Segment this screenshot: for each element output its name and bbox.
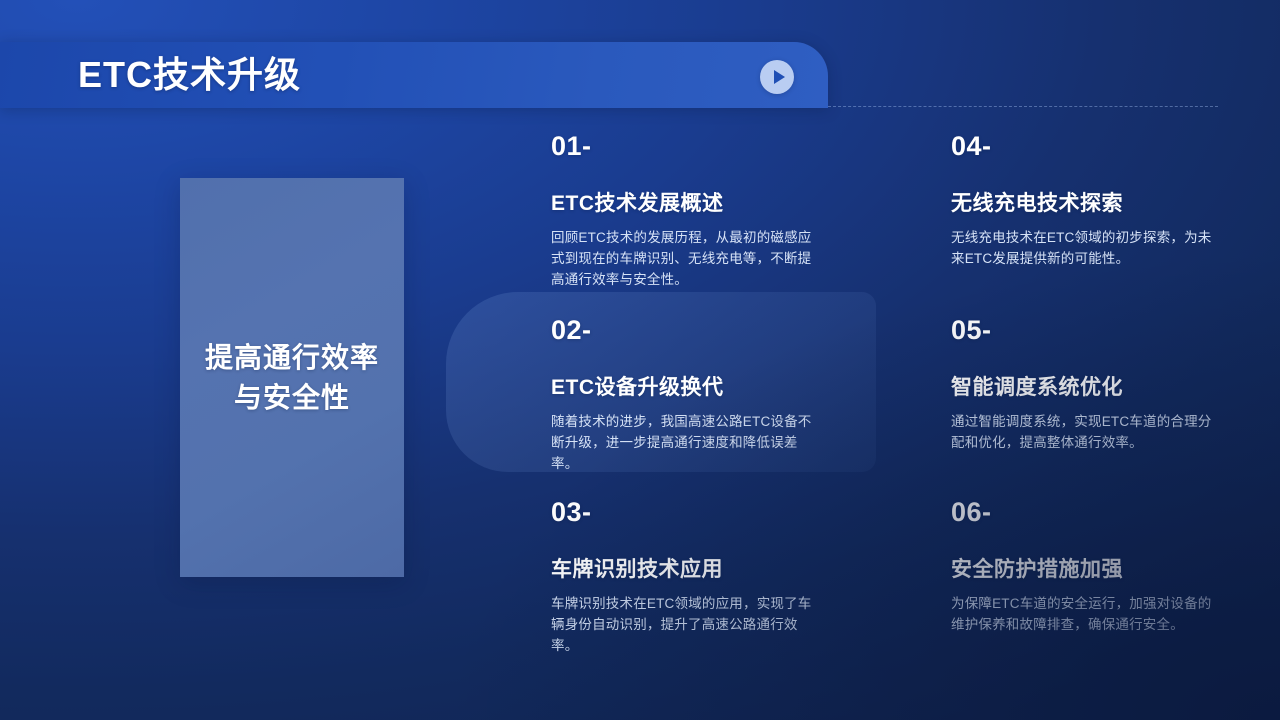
item-number: 06- (951, 496, 1219, 528)
item-body: 无线充电技术在ETC领域的初步探索，为未来ETC发展提供新的可能性。 (951, 227, 1219, 269)
item-body: 随着技术的进步，我国高速公路ETC设备不断升级，进一步提高通行速度和降低误差率。 (551, 411, 819, 474)
item-body: 通过智能调度系统，实现ETC车道的合理分配和优化，提高整体通行效率。 (951, 411, 1219, 453)
item-body: 回顾ETC技术的发展历程，从最初的磁感应式到现在的车牌识别、无线充电等，不断提高… (551, 227, 819, 290)
item-heading: 安全防护措施加强 (951, 556, 1219, 584)
list-item-03[interactable]: 03- 车牌识别技术应用 车牌识别技术在ETC领域的应用，实现了车辆身份自动识别… (551, 496, 819, 656)
item-number: 05- (951, 314, 1219, 346)
list-item-02[interactable]: 02- ETC设备升级换代 随着技术的进步，我国高速公路ETC设备不断升级，进一… (551, 314, 819, 474)
slide-canvas: ETC技术升级 提高通行效率 与安全性 01- ETC技术发展概述 回顾ETC技… (0, 0, 1280, 720)
item-number: 04- (951, 130, 1219, 162)
list-item-06[interactable]: 06- 安全防护措施加强 为保障ETC车道的安全运行，加强对设备的维护保养和故障… (951, 496, 1219, 635)
list-item-01[interactable]: 01- ETC技术发展概述 回顾ETC技术的发展历程，从最初的磁感应式到现在的车… (551, 130, 819, 290)
item-body: 车牌识别技术在ETC领域的应用，实现了车辆身份自动识别，提升了高速公路通行效率。 (551, 593, 819, 656)
item-heading: 车牌识别技术应用 (551, 556, 819, 584)
item-heading: 无线充电技术探索 (951, 190, 1219, 218)
item-heading: 智能调度系统优化 (951, 374, 1219, 402)
item-body: 为保障ETC车道的安全运行，加强对设备的维护保养和故障排查，确保通行安全。 (951, 593, 1219, 635)
items-grid: 01- ETC技术发展概述 回顾ETC技术的发展历程，从最初的磁感应式到现在的车… (0, 0, 1280, 720)
list-item-05[interactable]: 05- 智能调度系统优化 通过智能调度系统，实现ETC车道的合理分配和优化，提高… (951, 314, 1219, 453)
item-heading: ETC技术发展概述 (551, 190, 819, 218)
item-heading: ETC设备升级换代 (551, 374, 819, 402)
item-number: 01- (551, 130, 819, 162)
item-number: 02- (551, 314, 819, 346)
list-item-04[interactable]: 04- 无线充电技术探索 无线充电技术在ETC领域的初步探索，为未来ETC发展提… (951, 130, 1219, 269)
item-number: 03- (551, 496, 819, 528)
